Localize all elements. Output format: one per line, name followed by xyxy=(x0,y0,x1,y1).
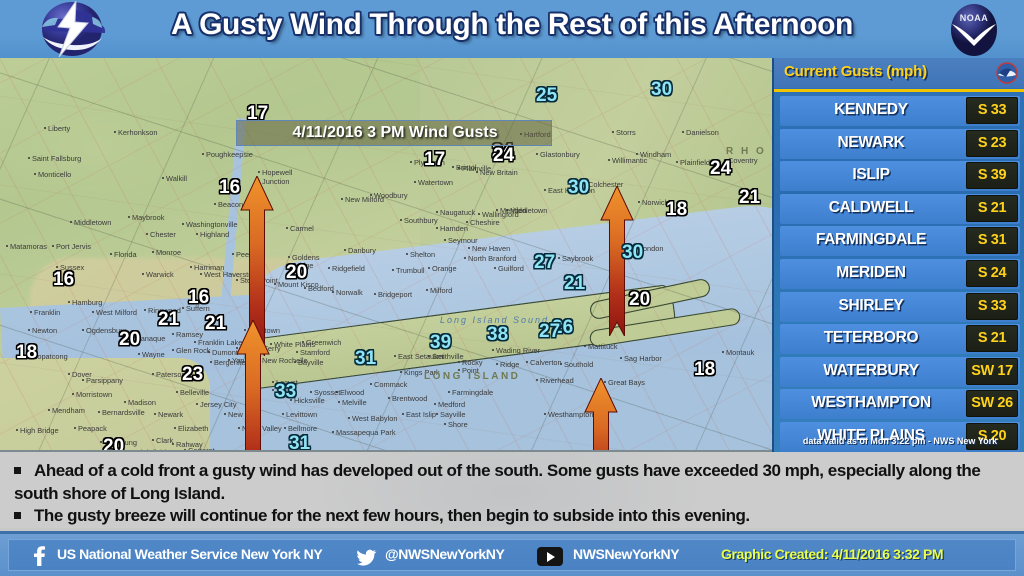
map-place-label: Hicksville xyxy=(294,396,325,405)
map-place-label: Hopatcong xyxy=(32,352,68,361)
station-gust-value: S 39 xyxy=(966,162,1018,189)
map-gust-value: 25 xyxy=(536,86,557,105)
nws-small-logo-icon xyxy=(996,62,1018,84)
map-place-label: Ridge xyxy=(500,360,519,369)
map-place-label: Woodbury xyxy=(374,191,408,200)
map-place-label: Highland xyxy=(200,230,229,239)
station-gust-text: SW 17 xyxy=(967,363,1017,379)
map-place-label: Danielson xyxy=(686,128,719,137)
station-row: WESTHAMPTONSW 26 xyxy=(780,389,1020,419)
station-row: ISLIPS 39 xyxy=(780,161,1020,191)
map-place-label: Bayville xyxy=(298,358,323,367)
station-gust-text: S 33 xyxy=(967,102,1017,118)
map-place-label: Newton xyxy=(32,326,57,335)
svg-text:NOAA: NOAA xyxy=(960,13,989,23)
map-gust-value: 27 xyxy=(534,253,555,272)
noaa-logo-icon: NOAA xyxy=(946,2,1002,58)
panel-footnote: data valid as of Mon 3:22 pm - NWS New Y… xyxy=(774,436,1024,446)
station-gust-value: S 24 xyxy=(966,260,1018,287)
map-banner-label: 4/11/2016 3 PM Wind Gusts xyxy=(237,124,553,142)
bullet-item: Ahead of a cold front a gusty wind has d… xyxy=(14,460,1012,505)
station-name: ISLIP xyxy=(780,166,962,184)
map-place-label: Melville xyxy=(342,398,367,407)
map-place-label: Sag Harbor xyxy=(624,354,662,363)
map-place-label: Port Jervis xyxy=(56,242,91,251)
map-gust-value: 33 xyxy=(275,382,296,401)
station-gust-text: S 31 xyxy=(967,232,1017,248)
graphic-created-label: Graphic Created: 4/11/2016 3:32 PM xyxy=(721,546,943,562)
map-gust-value: 21 xyxy=(158,310,179,329)
map-place-label: Watertown xyxy=(418,178,453,187)
map-place-label: Windham xyxy=(640,150,671,159)
map-place-label: Chester xyxy=(150,230,176,239)
map-place-label: Shore xyxy=(448,420,468,429)
youtube-icon[interactable] xyxy=(537,547,563,566)
map-gust-value: 16 xyxy=(219,178,240,197)
map-place-label: New Haven xyxy=(472,244,510,253)
map-place-label: Newark xyxy=(158,410,183,419)
map-place-label: Belleville xyxy=(180,388,209,397)
map-place-label: Orange xyxy=(432,264,457,273)
map-place-label: Poughkeepsie xyxy=(206,150,253,159)
station-gust-value: S 31 xyxy=(966,227,1018,254)
map-place-label: Coventry xyxy=(728,156,758,165)
map-place-label: Danbury xyxy=(348,246,376,255)
map-place-label: Cheshire xyxy=(470,218,500,227)
map-place-label: Washingtonville xyxy=(186,220,238,229)
map-gust-value: 30 xyxy=(651,80,672,99)
station-gust-text: SW 26 xyxy=(967,395,1017,411)
map-place-label: Guilford xyxy=(498,264,524,273)
facebook-label[interactable]: US National Weather Service New York NY xyxy=(57,546,322,562)
bullet-marker xyxy=(14,467,21,474)
map-place-label: Warwick xyxy=(146,270,174,279)
map-place-label: East Islip xyxy=(406,410,436,419)
map-place-label: Bridgeport xyxy=(378,290,412,299)
map-gust-value: 20 xyxy=(629,290,650,309)
station-name: MERIDEN xyxy=(780,264,962,282)
map-gust-value: 30 xyxy=(622,243,643,262)
station-name: KENNEDY xyxy=(780,101,962,119)
station-gust-value: SW 17 xyxy=(966,358,1018,385)
map-place-label: Plainfield xyxy=(680,158,710,167)
twitter-label[interactable]: @NWSNewYorkNY xyxy=(385,546,504,562)
map-place-label: Hamden xyxy=(440,224,468,233)
social-footer: US National Weather Service New York NY … xyxy=(0,531,1024,576)
weather-graphic: A Gusty Wind Through the Rest of this Af… xyxy=(0,0,1024,576)
map-gust-value: 23 xyxy=(182,365,203,384)
wind-arrow-nyc xyxy=(236,320,270,452)
map-place-label: Glen Rock xyxy=(176,346,211,355)
map-place-label: Calverton xyxy=(530,358,562,367)
station-gust-value: S 21 xyxy=(966,325,1018,352)
station-list: KENNEDYS 33NEWARKS 23ISLIPS 39CALDWELLS … xyxy=(780,96,1020,455)
map-place-label: Morristown xyxy=(76,390,112,399)
station-gust-text: S 33 xyxy=(967,298,1017,314)
map-place-label: Ridgefield xyxy=(332,264,365,273)
map-place-label: Mendham xyxy=(52,406,85,415)
map-place-label: Franklin xyxy=(34,308,60,317)
map-place-label: Levittown xyxy=(286,410,317,419)
station-gust-value: S 23 xyxy=(966,130,1018,157)
map-place-label: West Milford xyxy=(96,308,137,317)
map-place-label: Medford xyxy=(438,400,465,409)
station-row: SHIRLEYS 33 xyxy=(780,292,1020,322)
map-place-label: Montauk xyxy=(726,348,754,357)
map-gust-value: 17 xyxy=(424,150,445,169)
panel-header: Current Gusts (mph) xyxy=(774,58,1024,88)
map-place-label: North Branford xyxy=(468,254,516,263)
map-place-label: Southold xyxy=(564,360,593,369)
station-name: WESTHAMPTON xyxy=(780,394,962,412)
station-gust-value: S 21 xyxy=(966,195,1018,222)
map-gust-value: 21 xyxy=(205,314,226,333)
map-gust-value: 30 xyxy=(568,178,589,197)
map-place-label: Brentwood xyxy=(392,394,427,403)
region-label: R H O xyxy=(726,146,766,157)
map-gust-value: 24 xyxy=(710,159,731,178)
station-row: FARMINGDALES 31 xyxy=(780,226,1020,256)
facebook-icon[interactable] xyxy=(31,545,47,566)
station-gust-text: S 21 xyxy=(967,200,1017,216)
map-place-label: Bellmore xyxy=(288,424,317,433)
map-place-label: Walkill xyxy=(166,174,187,183)
map-place-label: Milford xyxy=(430,286,452,295)
page-title: A Gusty Wind Through the Rest of this Af… xyxy=(0,8,1024,42)
map-gust-value: 18 xyxy=(694,360,715,379)
bullet-item: The gusty breeze will continue for the n… xyxy=(14,505,1012,528)
map-place-label: Florida xyxy=(114,250,137,259)
map-place-label: Southbury xyxy=(404,216,438,225)
map-place-label: Wayne xyxy=(142,350,165,359)
map-gust-value: 24 xyxy=(493,146,514,165)
map-place-label: Carmel xyxy=(290,224,314,233)
map-place-label: Plainville xyxy=(462,164,491,173)
map-place-label: Glastonbury xyxy=(540,150,580,159)
station-gust-text: S 23 xyxy=(967,135,1017,151)
map-place-label: West Babylon xyxy=(352,414,397,423)
map-gust-value: 31 xyxy=(289,434,310,452)
map-gust-value: 20 xyxy=(103,437,124,452)
map-place-label: Norwalk xyxy=(336,288,363,297)
station-gust-value: S 33 xyxy=(966,293,1018,320)
bullet-text: Ahead of a cold front a gusty wind has d… xyxy=(14,461,980,503)
map-place-label: Bernardsville xyxy=(102,408,145,417)
map-place-label: Maybrook xyxy=(132,213,164,222)
station-gust-value: S 33 xyxy=(966,97,1018,124)
station-name: TETERBORO xyxy=(780,329,962,347)
station-name: WATERBURY xyxy=(780,362,962,380)
map-place-label: Wading River xyxy=(496,346,540,355)
map-place-label: Jersey City xyxy=(200,400,237,409)
map-gust-value: 20 xyxy=(286,263,307,282)
map-place-label: Smithville xyxy=(432,352,464,361)
map-gust-value: 21 xyxy=(739,188,760,207)
map-place-label: Greenwich xyxy=(306,338,341,347)
map-place-label: Norwich xyxy=(642,198,669,207)
map-place-label: Kerhonkson xyxy=(118,128,157,137)
map-place-label: Bedford xyxy=(308,284,334,293)
panel-divider xyxy=(774,89,1024,92)
map-place-label: Naugatuck xyxy=(440,208,475,217)
station-name: FARMINGDALE xyxy=(780,231,962,249)
station-gust-value: SW 26 xyxy=(966,390,1018,417)
map-place-label: Elwood xyxy=(340,388,364,397)
map-place-label: Mattituck xyxy=(588,342,618,351)
region-label: LONG ISLAND xyxy=(424,371,520,382)
map-place-label: Commack xyxy=(374,380,407,389)
header-bar: A Gusty Wind Through the Rest of this Af… xyxy=(0,0,1024,61)
map-place-label: Meriden xyxy=(500,206,527,215)
panel-title: Current Gusts (mph) xyxy=(784,63,927,80)
station-row: TETERBOROS 21 xyxy=(780,324,1020,354)
station-row: NEWARKS 23 xyxy=(780,129,1020,159)
map-gust-value: 27 xyxy=(539,322,560,341)
station-name: SHIRLEY xyxy=(780,297,962,315)
map-gust-value: 31 xyxy=(355,349,376,368)
map-place-label: Saybrook xyxy=(562,254,593,263)
station-gust-text: S 24 xyxy=(967,265,1017,281)
map-place-label: Middletown xyxy=(74,218,111,227)
map-place-label: Matamoras xyxy=(10,242,47,251)
map-place-label: High Bridge xyxy=(20,426,59,435)
footer-inner-bar: US National Weather Service New York NY … xyxy=(8,539,1016,571)
map-place-label: Massapequa Park xyxy=(336,428,396,437)
map-gust-value: 16 xyxy=(188,288,209,307)
wind-arrow-peconic xyxy=(584,378,618,452)
station-row: MERIDENS 24 xyxy=(780,259,1020,289)
station-row: KENNEDYS 33 xyxy=(780,96,1020,126)
map-place-label: Storrs xyxy=(616,128,636,137)
map-gust-value: 18 xyxy=(16,343,37,362)
map-place-label: Peapack xyxy=(78,424,107,433)
map-place-label: Parsippany xyxy=(86,376,123,385)
map-gust-value: 16 xyxy=(53,270,74,289)
youtube-label[interactable]: NWSNewYorkNY xyxy=(573,546,679,562)
bullet-text: The gusty breeze will continue for the n… xyxy=(34,506,750,525)
map-place-label: Sayville xyxy=(440,410,465,419)
station-name: NEWARK xyxy=(780,134,962,152)
current-gusts-panel: Current Gusts (mph) KENNEDYS 33NEWARKS 2… xyxy=(772,58,1024,452)
station-row: CALDWELLS 21 xyxy=(780,194,1020,224)
station-gust-text: S 39 xyxy=(967,167,1017,183)
twitter-icon[interactable] xyxy=(357,548,377,568)
map-place-label: Hamburg xyxy=(72,298,102,307)
map-place-label: Clark xyxy=(156,436,173,445)
map-gust-value: 39 xyxy=(430,333,451,352)
map-gust-value: 38 xyxy=(487,325,508,344)
bullet-marker xyxy=(14,512,21,519)
map-place-label: Liberty xyxy=(48,124,70,133)
station-row: WATERBURYSW 17 xyxy=(780,357,1020,387)
map-date-banner: 4/11/2016 3 PM Wind Gusts xyxy=(236,120,552,146)
map-place-label: Monticello xyxy=(38,170,71,179)
station-gust-text: S 21 xyxy=(967,330,1017,346)
map-gust-value: 20 xyxy=(119,330,140,349)
map-place-label: Madison xyxy=(128,398,156,407)
station-name: CALDWELL xyxy=(780,199,962,217)
map-place-label: Elizabeth xyxy=(178,424,208,433)
map-place-label: Riverhead xyxy=(540,376,574,385)
map-place-label: Shelton xyxy=(410,250,435,259)
map-place-label: Saint Fallsburg xyxy=(32,154,81,163)
map-place-label: Monroe xyxy=(156,248,181,257)
map-gust-value: 18 xyxy=(666,200,687,219)
map-place-label: Farmingdale xyxy=(452,388,493,397)
map-place-label: Trumbull xyxy=(396,266,424,275)
map-gust-value: 21 xyxy=(564,274,585,293)
